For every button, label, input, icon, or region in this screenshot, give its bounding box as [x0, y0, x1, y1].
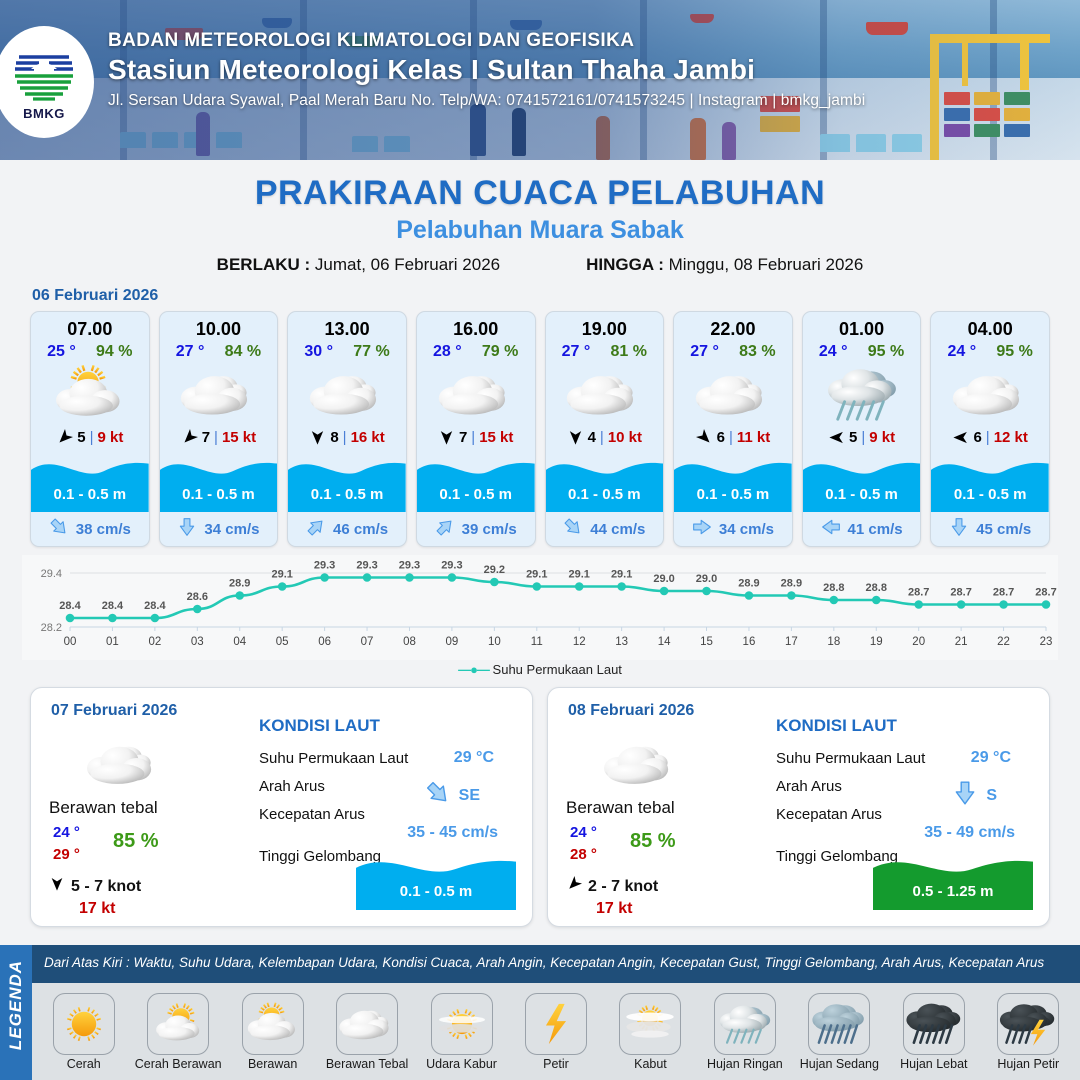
cloudy-icon [600, 734, 680, 799]
cloudy-icon [546, 361, 664, 427]
svg-text:18: 18 [827, 636, 840, 648]
legend-item-label: Berawan Tebal [323, 1057, 410, 1071]
current-direction-icon [306, 517, 326, 541]
legend-item-label: Kabut [607, 1057, 694, 1071]
hingga-value: Minggu, 08 Februari 2026 [669, 255, 864, 274]
wind-separator: | [986, 429, 990, 446]
svg-text:28.2: 28.2 [41, 622, 62, 634]
card-humidity: 95 % [868, 343, 904, 361]
legend-icon-row: Cerah Cerah Berawan [32, 983, 1080, 1080]
current-direction-icon [49, 517, 69, 541]
card-temperature: 28 ° [433, 343, 462, 361]
card-wind-row: 5 | 9 kt [31, 427, 149, 450]
cloudy-icon [160, 361, 278, 427]
haze-icon [431, 993, 493, 1055]
card-wind-row: 7 | 15 kt [160, 427, 278, 450]
wind-direction-icon [49, 876, 65, 897]
svg-text:28.9: 28.9 [738, 578, 759, 590]
legend-item: Udara Kabur [418, 993, 505, 1071]
card-temp-humidity: 25 ° 94 % [31, 340, 149, 361]
moderate-rain-icon [808, 993, 870, 1055]
sea-current-direction: S [952, 780, 997, 811]
card-time: 04.00 [931, 312, 1049, 340]
wind-gust: 9 kt [869, 429, 895, 446]
svg-text:04: 04 [233, 636, 246, 648]
panel-temp-max: 28 ° [570, 846, 597, 863]
card-wind-row: 8 | 16 kt [288, 427, 406, 450]
forecast-card: 13.00 30 ° 77 % 8 [287, 311, 407, 547]
wave-height: 0.1 - 0.5 m [803, 486, 921, 503]
current-speed: 34 cm/s [719, 521, 774, 538]
svg-text:05: 05 [276, 636, 289, 648]
card-time: 13.00 [288, 312, 406, 340]
current-speed: 45 cm/s [976, 521, 1031, 538]
wind-speed: 7 [459, 429, 467, 446]
fog-icon [619, 993, 681, 1055]
card-humidity: 84 % [225, 343, 261, 361]
legend-item: Cerah [40, 993, 127, 1071]
svg-text:00: 00 [64, 636, 77, 648]
wind-separator: | [343, 429, 347, 446]
card-humidity: 83 % [739, 343, 775, 361]
validity-row: BERLAKU : Jumat, 06 Februari 2026 HINGGA… [0, 255, 1080, 275]
cloudy-icon [336, 993, 398, 1055]
wind-direction-icon [566, 876, 582, 897]
wave-height: 0.1 - 0.5 m [546, 486, 664, 503]
legend-item-label: Berawan [229, 1057, 316, 1071]
wind-gust: 9 kt [98, 429, 124, 446]
wave-height: 0.1 - 0.5 m [288, 486, 406, 503]
svg-text:28.8: 28.8 [866, 582, 887, 594]
card-wave: 0.1 - 0.5 m [674, 450, 792, 512]
card-temp-humidity: 28 ° 79 % [417, 340, 535, 361]
wind-separator: | [90, 429, 94, 446]
card-time: 16.00 [417, 312, 535, 340]
svg-text:29.0: 29.0 [696, 573, 717, 585]
rain-icon [803, 361, 921, 427]
wave-height: 0.1 - 0.5 m [931, 486, 1049, 503]
sea-row-label: Kecepatan Arus [776, 806, 882, 823]
svg-text:28.4: 28.4 [59, 600, 81, 612]
sea-conditions-title: KONDISI LAUT [259, 716, 380, 736]
card-temperature: 27 ° [562, 343, 591, 361]
hourly-forecast-cards: 07.00 25 ° 94 % 5 | 9 kt [0, 311, 1080, 547]
card-current-row: 39 cm/s [417, 512, 535, 546]
wind-separator: | [471, 429, 475, 446]
wind-separator: | [861, 429, 865, 446]
wind-direction-icon [567, 429, 584, 446]
svg-text:28.9: 28.9 [781, 578, 802, 590]
card-temperature: 27 ° [690, 343, 719, 361]
sea-conditions-title: KONDISI LAUT [776, 716, 897, 736]
svg-text:29.3: 29.3 [356, 560, 377, 572]
svg-text:29.0: 29.0 [653, 573, 674, 585]
sea-row-label: Suhu Permukaan Laut [259, 750, 408, 767]
card-current-row: 34 cm/s [674, 512, 792, 546]
card-temp-humidity: 27 ° 81 % [546, 340, 664, 361]
forecast-card: 07.00 25 ° 94 % 5 | 9 kt [30, 311, 150, 547]
card-temp-humidity: 30 ° 77 % [288, 340, 406, 361]
forecast-card: 16.00 28 ° 79 % 7 [416, 311, 536, 547]
sun-icon [53, 993, 115, 1055]
svg-text:28.7: 28.7 [950, 587, 971, 599]
panel-date: 08 Februari 2026 [568, 702, 694, 720]
svg-text:28.9: 28.9 [229, 578, 250, 590]
legend-bar: LEGENDA Dari Atas Kiri : Waktu, Suhu Uda… [0, 945, 1080, 1080]
bmkg-logo-mark [13, 43, 75, 105]
wind-gust: 15 kt [222, 429, 256, 446]
wind-gust: 12 kt [994, 429, 1028, 446]
card-wind-row: 6 | 12 kt [931, 427, 1049, 450]
page-header: BMKG BADAN METEOROLOGI KLIMATOLOGI DAN G… [0, 0, 1080, 160]
card-wave: 0.1 - 0.5 m [803, 450, 921, 512]
forecast-card: 22.00 27 ° 83 % 6 [673, 311, 793, 547]
svg-text:28.7: 28.7 [993, 587, 1014, 599]
card-time: 10.00 [160, 312, 278, 340]
legend-item-label: Hujan Ringan [701, 1057, 788, 1071]
svg-text:29.3: 29.3 [314, 560, 335, 572]
svg-text:29.1: 29.1 [526, 569, 547, 581]
sea-row-label: Kecepatan Arus [259, 806, 365, 823]
card-wind-row: 5 | 9 kt [803, 427, 921, 450]
wind-speed: 4 [588, 429, 596, 446]
lightning-icon [525, 993, 587, 1055]
current-direction-icon [425, 780, 451, 811]
card-temp-humidity: 24 ° 95 % [803, 340, 921, 361]
sun-cloud-icon [147, 993, 209, 1055]
card-current-row: 45 cm/s [931, 512, 1049, 546]
svg-text:02: 02 [148, 636, 161, 648]
panel-wave-height: 0.5 - 1.25 m [873, 883, 1033, 900]
card-wave: 0.1 - 0.5 m [160, 450, 278, 512]
cloudy-icon [288, 361, 406, 427]
panel-humidity: 85 % [630, 830, 676, 853]
svg-text:13: 13 [615, 636, 628, 648]
card-humidity: 81 % [611, 343, 647, 361]
hingga-label: HINGGA : [586, 255, 664, 274]
wind-gust: 11 kt [737, 429, 770, 446]
svg-text:21: 21 [955, 636, 968, 648]
wind-speed: 5 [849, 429, 857, 446]
card-time: 19.00 [546, 312, 664, 340]
panel-temp-min: 24 ° [53, 824, 80, 841]
wind-gust: 15 kt [479, 429, 513, 446]
card-current-row: 41 cm/s [803, 512, 921, 546]
svg-text:28.6: 28.6 [187, 591, 208, 603]
svg-text:28.7: 28.7 [1035, 587, 1056, 599]
card-time: 01.00 [803, 312, 921, 340]
partly-cloudy-icon [242, 993, 304, 1055]
title-block: PRAKIRAAN CUACA PELABUHAN Pelabuhan Muar… [0, 174, 1080, 275]
light-rain-icon [714, 993, 776, 1055]
wind-speed: 6 [973, 429, 981, 446]
card-current-row: 44 cm/s [546, 512, 664, 546]
forecast-card: 04.00 24 ° 95 % 6 [930, 311, 1050, 547]
svg-text:10: 10 [488, 636, 501, 648]
card-humidity: 79 % [482, 343, 518, 361]
legend-item: Kabut [607, 993, 694, 1071]
card-temperature: 27 ° [176, 343, 205, 361]
svg-text:29.4: 29.4 [41, 568, 62, 580]
card-current-row: 38 cm/s [31, 512, 149, 546]
station-contact: Jl. Sersan Udara Syawal, Paal Merah Baru… [108, 92, 865, 110]
wave-height: 0.1 - 0.5 m [417, 486, 535, 503]
panel-gust: 17 kt [596, 900, 632, 918]
current-speed: 44 cm/s [590, 521, 645, 538]
card-humidity: 77 % [353, 343, 389, 361]
svg-text:29.2: 29.2 [484, 564, 505, 576]
cloudy-icon [931, 361, 1049, 427]
svg-text:17: 17 [785, 636, 798, 648]
svg-text:29.1: 29.1 [271, 569, 292, 581]
berlaku-value: Jumat, 06 Februari 2026 [315, 255, 500, 274]
card-wave: 0.1 - 0.5 m [931, 450, 1049, 512]
card-temp-humidity: 27 ° 84 % [160, 340, 278, 361]
current-direction-icon [952, 780, 978, 811]
current-direction-icon [949, 517, 969, 541]
card-humidity: 94 % [96, 343, 132, 361]
card-temperature: 24 ° [948, 343, 977, 361]
wind-speed: 6 [717, 429, 725, 446]
svg-text:19: 19 [870, 636, 883, 648]
card-temperature: 30 ° [304, 343, 333, 361]
panel-humidity: 85 % [113, 830, 159, 853]
chart-legend: —●— Suhu Permukaan Laut [0, 662, 1080, 677]
current-direction-icon [692, 517, 712, 541]
chart-legend-marker: —●— [458, 662, 489, 677]
current-speed: 34 cm/s [204, 521, 259, 538]
station-name: Stasiun Meteorologi Kelas I Sultan Thaha… [108, 54, 865, 86]
svg-text:16: 16 [743, 636, 756, 648]
panel-gust: 17 kt [79, 900, 115, 918]
wind-direction-icon [438, 429, 455, 446]
svg-text:28.7: 28.7 [908, 587, 929, 599]
forecast-card: 01.00 24 ° 95 % 5 [802, 311, 922, 547]
current-direction-label: S [986, 787, 997, 805]
panel-condition: Berawan tebal [49, 798, 158, 818]
legend-side-label: LEGENDA [6, 955, 26, 1055]
page-title: PRAKIRAAN CUACA PELABUHAN [0, 174, 1080, 213]
wind-separator: | [214, 429, 218, 446]
forecast-card: 19.00 27 ° 81 % 4 [545, 311, 665, 547]
legend-item: Petir [512, 993, 599, 1071]
svg-text:29.1: 29.1 [611, 569, 632, 581]
svg-text:03: 03 [191, 636, 204, 648]
svg-text:14: 14 [658, 636, 671, 648]
panel-wind: 5 - 7 knot [49, 876, 141, 897]
page-subtitle: Pelabuhan Muara Sabak [0, 216, 1080, 245]
header-text-block: BADAN METEOROLOGI KLIMATOLOGI DAN GEOFIS… [108, 30, 865, 110]
card-temperature: 25 ° [47, 343, 76, 361]
sea-row-label: Arah Arus [259, 778, 325, 795]
panel-wave: 0.1 - 0.5 m [356, 848, 516, 910]
svg-text:29.3: 29.3 [399, 560, 420, 572]
panel-wind: 2 - 7 knot [566, 876, 658, 897]
current-speed: 39 cm/s [462, 521, 517, 538]
panel-condition: Berawan tebal [566, 798, 675, 818]
card-temperature: 24 ° [819, 343, 848, 361]
current-speed: 46 cm/s [333, 521, 388, 538]
wave-height: 0.1 - 0.5 m [31, 486, 149, 503]
wind-gust: 10 kt [608, 429, 642, 446]
legend-item: Berawan [229, 993, 316, 1071]
panel-temp-min: 24 ° [570, 824, 597, 841]
legend-item: Cerah Berawan [134, 993, 221, 1071]
sea-row-value: 29 °C [971, 749, 1011, 767]
partly-cloudy-icon [31, 361, 149, 427]
legend-item-label: Cerah [40, 1057, 127, 1071]
cloudy-icon [674, 361, 792, 427]
panel-wind-range: 2 - 7 knot [588, 878, 658, 896]
card-humidity: 95 % [996, 343, 1032, 361]
svg-text:28.8: 28.8 [823, 582, 844, 594]
legend-item-label: Hujan Lebat [890, 1057, 977, 1071]
svg-text:07: 07 [361, 636, 374, 648]
card-wave: 0.1 - 0.5 m [288, 450, 406, 512]
legend-item: Hujan Sedang [796, 993, 883, 1071]
thunderstorm-icon [997, 993, 1059, 1055]
card-current-row: 34 cm/s [160, 512, 278, 546]
current-direction-icon [821, 517, 841, 541]
current-direction-icon [177, 517, 197, 541]
card-temp-humidity: 24 ° 95 % [931, 340, 1049, 361]
legend-item-label: Hujan Sedang [796, 1057, 883, 1071]
card-wave: 0.1 - 0.5 m [31, 450, 149, 512]
panel-date: 07 Februari 2026 [51, 702, 177, 720]
cloudy-icon [83, 734, 163, 799]
wind-speed: 5 [77, 429, 85, 446]
svg-text:11: 11 [531, 636, 543, 648]
wave-height: 0.1 - 0.5 m [160, 486, 278, 503]
legend-item-label: Udara Kabur [418, 1057, 505, 1071]
card-time: 22.00 [674, 312, 792, 340]
card-wave: 0.1 - 0.5 m [417, 450, 535, 512]
bmkg-logo-text: BMKG [23, 106, 65, 121]
svg-text:09: 09 [446, 636, 459, 648]
card-wind-row: 4 | 10 kt [546, 427, 664, 450]
svg-text:29.1: 29.1 [569, 569, 590, 581]
legend-item: Hujan Petir [985, 993, 1072, 1071]
wind-separator: | [729, 429, 733, 446]
panel-wave-height: 0.1 - 0.5 m [356, 883, 516, 900]
wind-separator: | [600, 429, 604, 446]
sea-row-value: 29 °C [454, 749, 494, 767]
sea-row-value: 35 - 45 cm/s [407, 824, 498, 842]
legend-item-label: Petir [512, 1057, 599, 1071]
current-direction-icon [563, 517, 583, 541]
chart-legend-label: Suhu Permukaan Laut [493, 662, 622, 677]
sea-row-label: Suhu Permukaan Laut [776, 750, 925, 767]
legend-caption-bar: Dari Atas Kiri : Waktu, Suhu Udara, Kele… [32, 945, 1080, 983]
daily-panel: 08 Februari 2026 Berawan tebal 24 ° 28 °… [547, 687, 1050, 927]
wind-direction-icon [828, 429, 845, 446]
agency-name: BADAN METEOROLOGI KLIMATOLOGI DAN GEOFIS… [108, 30, 865, 52]
wind-direction-icon [309, 429, 326, 446]
svg-text:29.3: 29.3 [441, 560, 462, 572]
panel-temp-max: 29 ° [53, 846, 80, 863]
heavy-rain-icon [903, 993, 965, 1055]
wave-height: 0.1 - 0.5 m [674, 486, 792, 503]
legend-item: Hujan Ringan [701, 993, 788, 1071]
current-speed: 41 cm/s [848, 521, 903, 538]
sea-row-value: 35 - 49 cm/s [924, 824, 1015, 842]
svg-text:23: 23 [1040, 636, 1053, 648]
forecast-card: 10.00 27 ° 84 % 7 [159, 311, 279, 547]
panel-wave: 0.5 - 1.25 m [873, 848, 1033, 910]
daily-panel: 07 Februari 2026 Berawan tebal 24 ° 29 °… [30, 687, 533, 927]
sea-current-direction: SE [425, 780, 480, 811]
wind-direction-icon [696, 429, 713, 446]
legend-item: Hujan Lebat [890, 993, 977, 1071]
svg-text:28.4: 28.4 [144, 600, 166, 612]
svg-text:12: 12 [573, 636, 586, 648]
card-wind-row: 6 | 11 kt [674, 427, 792, 450]
card-time: 07.00 [31, 312, 149, 340]
panel-wind-range: 5 - 7 knot [71, 878, 141, 896]
wind-direction-icon [952, 429, 969, 446]
berlaku-label: BERLAKU : [217, 255, 311, 274]
svg-text:20: 20 [912, 636, 925, 648]
berlaku-group: BERLAKU : Jumat, 06 Februari 2026 [217, 255, 500, 275]
card-wind-row: 7 | 15 kt [417, 427, 535, 450]
svg-text:15: 15 [700, 636, 713, 648]
current-direction-label: SE [459, 787, 480, 805]
hingga-group: HINGGA : Minggu, 08 Februari 2026 [586, 255, 863, 275]
legend-item-label: Hujan Petir [985, 1057, 1072, 1071]
card-temp-humidity: 27 ° 83 % [674, 340, 792, 361]
svg-text:22: 22 [997, 636, 1010, 648]
legend-item-label: Cerah Berawan [134, 1057, 221, 1071]
wind-direction-icon [181, 429, 198, 446]
current-direction-icon [435, 517, 455, 541]
forecast-date-label: 06 Februari 2026 [32, 287, 1080, 305]
sea-row-label: Arah Arus [776, 778, 842, 795]
card-wave: 0.1 - 0.5 m [546, 450, 664, 512]
legend-item: Berawan Tebal [323, 993, 410, 1071]
wind-speed: 8 [330, 429, 338, 446]
sst-chart: 29.428.228.40028.40128.40228.60328.90429… [0, 555, 1080, 660]
svg-text:08: 08 [403, 636, 416, 648]
daily-forecast-panels: 07 Februari 2026 Berawan tebal 24 ° 29 °… [0, 677, 1080, 927]
wind-speed: 7 [202, 429, 210, 446]
svg-text:06: 06 [318, 636, 331, 648]
current-speed: 38 cm/s [76, 521, 131, 538]
legend-caption: Dari Atas Kiri : Waktu, Suhu Udara, Kele… [32, 945, 1080, 970]
cloudy-icon [417, 361, 535, 427]
svg-text:28.4: 28.4 [102, 600, 124, 612]
card-current-row: 46 cm/s [288, 512, 406, 546]
wind-gust: 16 kt [351, 429, 385, 446]
svg-text:01: 01 [106, 636, 119, 648]
wind-direction-icon [56, 429, 73, 446]
legend-side-tab: LEGENDA [0, 945, 32, 1080]
